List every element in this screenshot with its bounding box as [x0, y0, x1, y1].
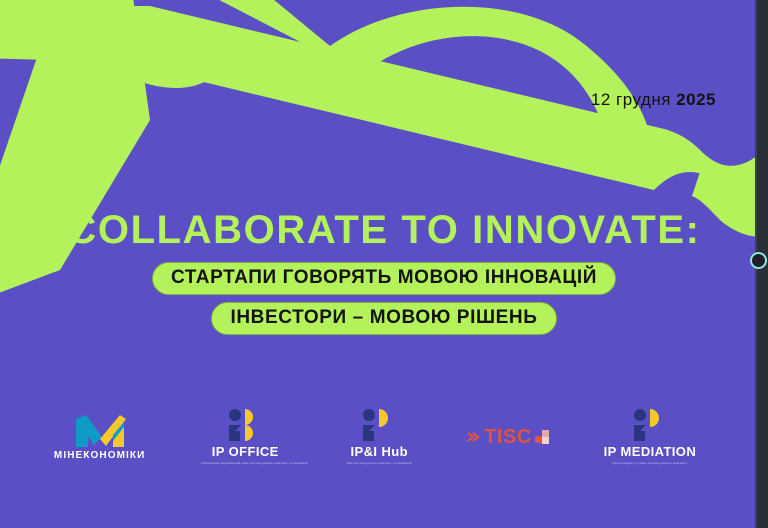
subtitle-pill-startups: СТАРТАПИ ГОВОРЯТЬ МОВОЮ ІННОВАЦІЙ	[152, 262, 616, 295]
ipi-hub-mark-icon	[362, 408, 396, 442]
partner-name-minekonomiky: МІНЕКОНОМІКИ	[54, 450, 145, 461]
partner-tagline-ip-mediation: Центр медіації у сфері інтелектуальної в…	[613, 461, 688, 466]
partner-logo-ip-mediation: IP MEDIATION Центр медіації у сфері інте…	[604, 408, 696, 466]
event-date: 12 грудня 2025	[591, 90, 716, 110]
subtitle-pill-row: СТАРТАПИ ГОВОРЯТЬ МОВОЮ ІННОВАЦІЙ ІНВЕСТ…	[0, 262, 768, 335]
partner-tagline-ip-office: Український національний офіс інтелектуа…	[201, 461, 289, 466]
event-poster: 12 грудня 2025 COLLABORATE TO INNOVATE: …	[0, 0, 768, 528]
event-date-year: 2025	[676, 90, 716, 109]
partner-logo-minekonomiky: МІНЕКОНОМІКИ	[54, 413, 145, 461]
ipi-hub-wordmark-row: IP&I Hub	[351, 445, 408, 458]
event-date-daymonth: 12 грудня	[591, 90, 671, 109]
page-title: COLLABORATE TO INNOVATE:	[0, 210, 768, 250]
partner-name-ip-office: IP OFFICE	[212, 445, 279, 458]
tisc-chevrons-icon	[467, 430, 481, 444]
ip-mediation-wordmark-row: IP MEDIATION	[604, 445, 696, 458]
scrollbar-thumb[interactable]	[750, 252, 767, 269]
ministry-m-icon	[72, 413, 128, 447]
partner-logo-strip: МІНЕКОНОМІКИ IP OFFICE Український націо…	[0, 398, 750, 476]
ip-office-mark-icon	[228, 408, 262, 442]
green-crescent	[88, 46, 230, 88]
partner-name-ipi-hub: IP&I Hub	[351, 445, 408, 458]
partner-logo-ip-office: IP OFFICE Український національний офіс …	[199, 408, 291, 466]
ip-mediation-mark-icon	[633, 408, 667, 442]
partner-logo-ipi-hub: IP&I Hub Хаб інтелектуальної власності т…	[345, 408, 413, 466]
partner-logo-tisc: TISC	[467, 427, 550, 447]
green-arc-loop	[200, 0, 648, 128]
subtitle-pill-investors: ІНВЕСТОРИ – МОВОЮ РІШЕНЬ	[211, 302, 556, 335]
partner-name-tisc: TISC	[484, 427, 532, 447]
ip-office-wordmark-row: IP OFFICE	[212, 445, 279, 458]
partner-name-ip-mediation: IP MEDIATION	[604, 445, 696, 458]
partner-tagline-ipi-hub: Хаб інтелектуальної власності та інновац…	[347, 461, 412, 466]
green-ribbon-topleft	[0, 0, 120, 52]
tisc-corner-mark-icon	[535, 430, 550, 445]
headline-block: COLLABORATE TO INNOVATE: СТАРТАПИ ГОВОРЯ…	[0, 210, 768, 335]
